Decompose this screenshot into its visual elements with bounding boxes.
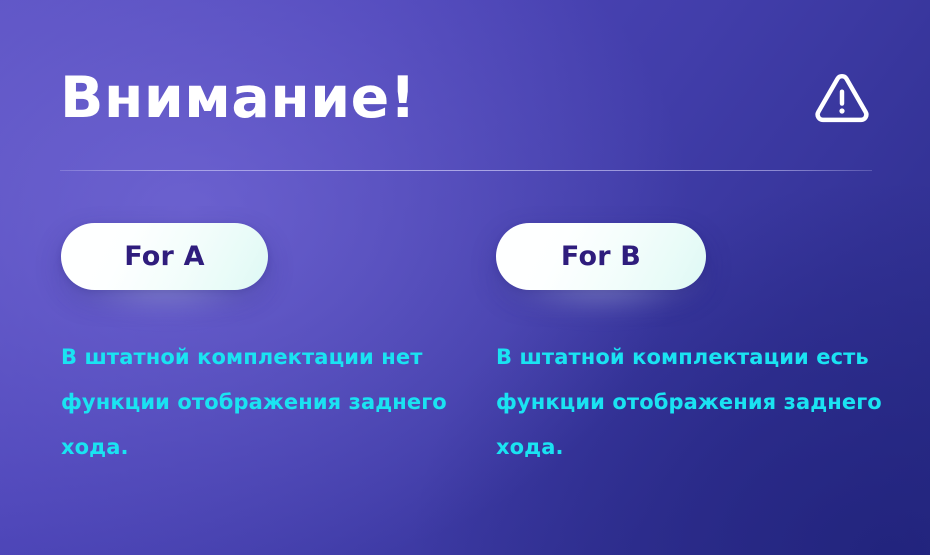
column-for-b: For B В штатной комплектации есть функци…: [496, 223, 896, 470]
column-for-a: For A В штатной комплектации нет функции…: [61, 223, 461, 470]
pill-wrap-for-a: For A: [61, 223, 461, 290]
for-b-description: В штатной комплектации есть функции отоб…: [496, 335, 888, 470]
pill-wrap-for-b: For B: [496, 223, 896, 290]
for-a-description: В штатной комплектации нет функции отобр…: [61, 335, 453, 470]
option-columns: For A В штатной комплектации нет функции…: [0, 0, 930, 555]
for-b-button[interactable]: For B: [496, 223, 706, 290]
for-a-button-label: For A: [124, 243, 205, 270]
for-a-button[interactable]: For A: [61, 223, 268, 290]
warning-slide: Внимание! For A В штатной комплектации н…: [0, 0, 930, 555]
for-b-button-label: For B: [561, 243, 641, 270]
